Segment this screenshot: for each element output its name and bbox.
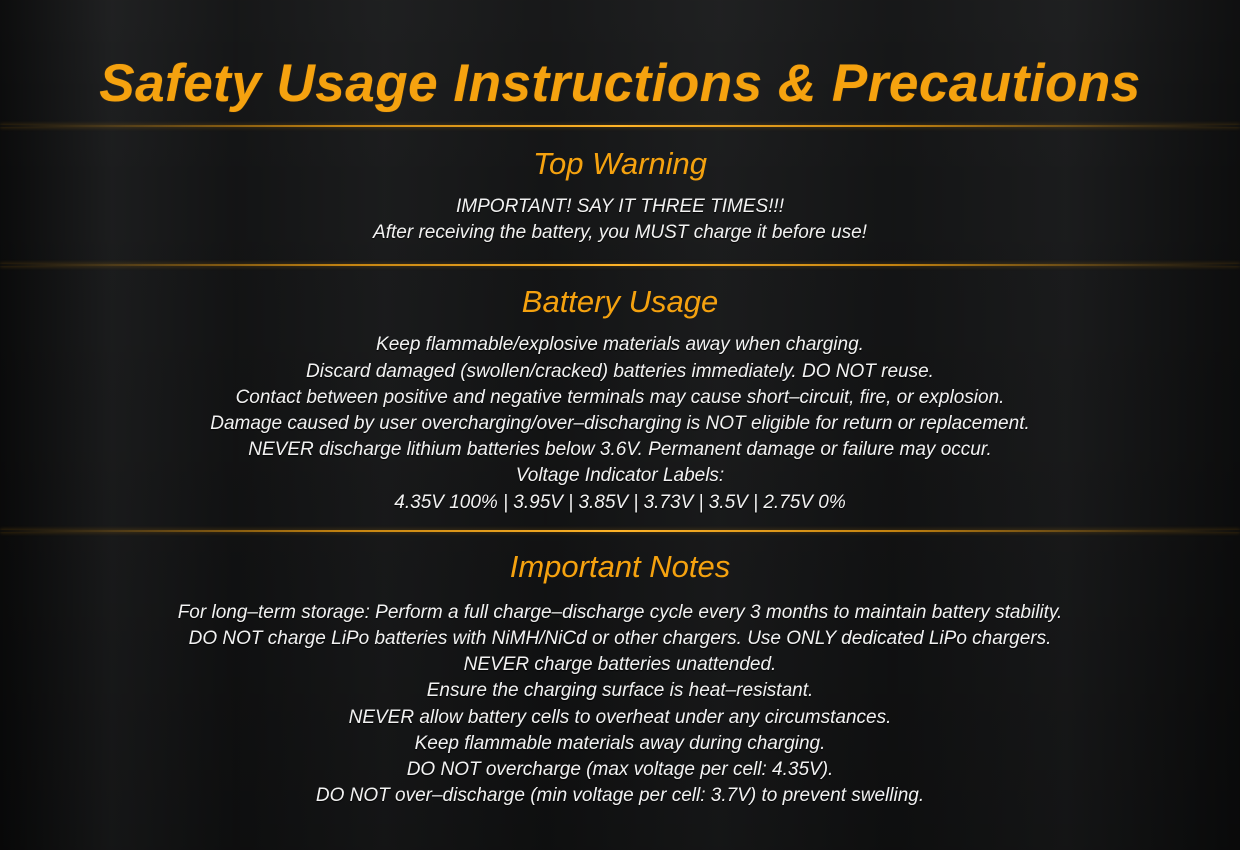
voltage-indicator-label-title: Voltage Indicator Labels:: [0, 463, 1240, 489]
safety-instructions-page: Safety Usage Instructions & Precautions …: [0, 0, 1240, 850]
section-heading-important-notes: Important Notes: [0, 532, 1240, 582]
battery-usage-line: Contact between positive and negative te…: [0, 385, 1240, 411]
warning-line: IMPORTANT! SAY IT THREE TIMES!!!: [0, 194, 1240, 220]
battery-usage-line: Keep flammable/explosive materials away …: [0, 332, 1240, 358]
voltage-indicator-values: 4.35V 100% | 3.95V | 3.85V | 3.73V | 3.5…: [0, 490, 1240, 516]
important-note-line: Ensure the charging surface is heat–resi…: [0, 678, 1240, 704]
section-lines-important-notes: For long–term storage: Perform a full ch…: [0, 582, 1240, 810]
section-top-warning: Top Warning IMPORTANT! SAY IT THREE TIME…: [0, 127, 1240, 246]
warning-line: After receiving the battery, you MUST ch…: [0, 220, 1240, 246]
important-note-line: NEVER charge batteries unattended.: [0, 652, 1240, 678]
section-lines-top-warning: IMPORTANT! SAY IT THREE TIMES!!! After r…: [0, 179, 1240, 246]
section-heading-battery-usage: Battery Usage: [0, 266, 1240, 317]
important-note-line: Keep flammable materials away during cha…: [0, 731, 1240, 757]
important-note-line: DO NOT overcharge (max voltage per cell:…: [0, 757, 1240, 783]
section-lines-battery-usage: Keep flammable/explosive materials away …: [0, 317, 1240, 515]
important-note-line: For long–term storage: Perform a full ch…: [0, 600, 1240, 626]
battery-usage-line: Discard damaged (swollen/cracked) batter…: [0, 359, 1240, 385]
section-important-notes: Important Notes For long–term storage: P…: [0, 532, 1240, 810]
important-note-line: DO NOT charge LiPo batteries with NiMH/N…: [0, 626, 1240, 652]
battery-usage-line: Damage caused by user overcharging/over–…: [0, 411, 1240, 437]
section-heading-top-warning: Top Warning: [0, 127, 1240, 179]
important-note-line: NEVER allow battery cells to overheat un…: [0, 705, 1240, 731]
section-battery-usage: Battery Usage Keep flammable/explosive m…: [0, 266, 1240, 515]
page-title: Safety Usage Instructions & Precautions: [0, 57, 1240, 110]
battery-usage-line: NEVER discharge lithium batteries below …: [0, 437, 1240, 463]
page-title-container: Safety Usage Instructions & Precautions: [0, 0, 1240, 110]
important-note-line: DO NOT over–discharge (min voltage per c…: [0, 783, 1240, 809]
